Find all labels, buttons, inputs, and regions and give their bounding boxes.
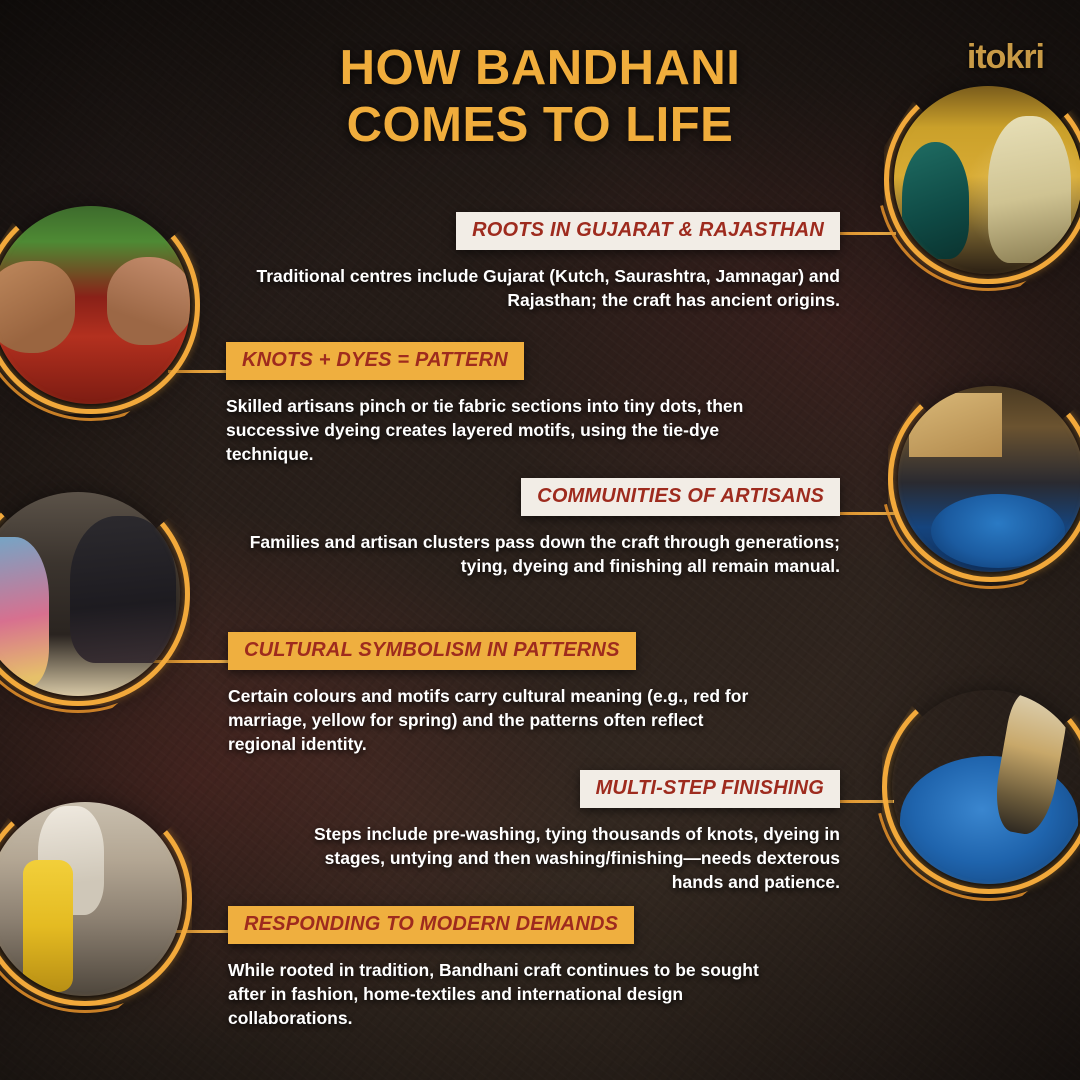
section-body-communities: Families and artisan clusters pass down … [242,530,840,578]
section-body-modern-demands: While rooted in tradition, Bandhani craf… [228,958,788,1030]
photo-yellow-into-blue-vat [878,676,1080,898]
photo-disc [898,386,1080,572]
itokri-logo[interactable]: itokri [967,38,1044,77]
photo-image [0,492,180,696]
connector-line-roots [836,232,896,235]
section-roots: ROOTS IN GUJARAT & RAJASTHAN Traditional… [250,212,840,312]
photo-hands-red-cloth [0,192,204,418]
section-label-knots-dyes[interactable]: KNOTS + DYES = PATTERN [226,342,524,380]
title-line-2: COMES TO LIFE [0,97,1080,154]
photo-disc [892,690,1080,884]
section-label-symbolism[interactable]: CULTURAL SYMBOLISM IN PATTERNS [228,632,636,670]
page-title: HOW BANDHANI COMES TO LIFE [0,40,1080,154]
photo-image [898,386,1080,572]
photo-disc [0,802,182,996]
section-finishing: MULTI-STEP FINISHING Steps include pre-w… [310,770,840,894]
photo-disc [0,492,180,696]
section-label-communities[interactable]: COMMUNITIES OF ARTISANS [521,478,840,516]
photo-disc [0,206,190,404]
section-communities: COMMUNITIES OF ARTISANS Families and art… [242,478,840,578]
section-label-finishing[interactable]: MULTI-STEP FINISHING [580,770,840,808]
infographic-poster: itokri HOW BANDHANI COMES TO LIFE [0,0,1080,1080]
photo-image [0,206,190,404]
title-line-1: HOW BANDHANI [0,40,1080,97]
section-body-symbolism: Certain colours and motifs carry cultura… [228,684,773,756]
section-body-roots: Traditional centres include Gujarat (Kut… [250,264,840,312]
photo-lifting-yellow-skein [0,788,196,1010]
photo-image [0,802,182,996]
section-modern-demands: RESPONDING TO MODERN DEMANDS While roote… [228,906,788,1030]
section-knots-dyes: KNOTS + DYES = PATTERN Skilled artisans … [226,342,756,466]
photo-women-cream-fabric [0,478,194,710]
section-body-knots-dyes: Skilled artisans pinch or tie fabric sec… [226,394,756,466]
section-label-roots[interactable]: ROOTS IN GUJARAT & RAJASTHAN [456,212,840,250]
connector-line-communities [838,512,896,515]
section-body-finishing: Steps include pre-washing, tying thousan… [310,822,840,894]
logo-wordmark: itokri [967,38,1044,76]
photo-dyeing-blue-tub [884,372,1080,586]
section-label-modern-demands[interactable]: RESPONDING TO MODERN DEMANDS [228,906,634,944]
section-symbolism: CULTURAL SYMBOLISM IN PATTERNS Certain c… [228,632,773,756]
photo-image [892,690,1080,884]
